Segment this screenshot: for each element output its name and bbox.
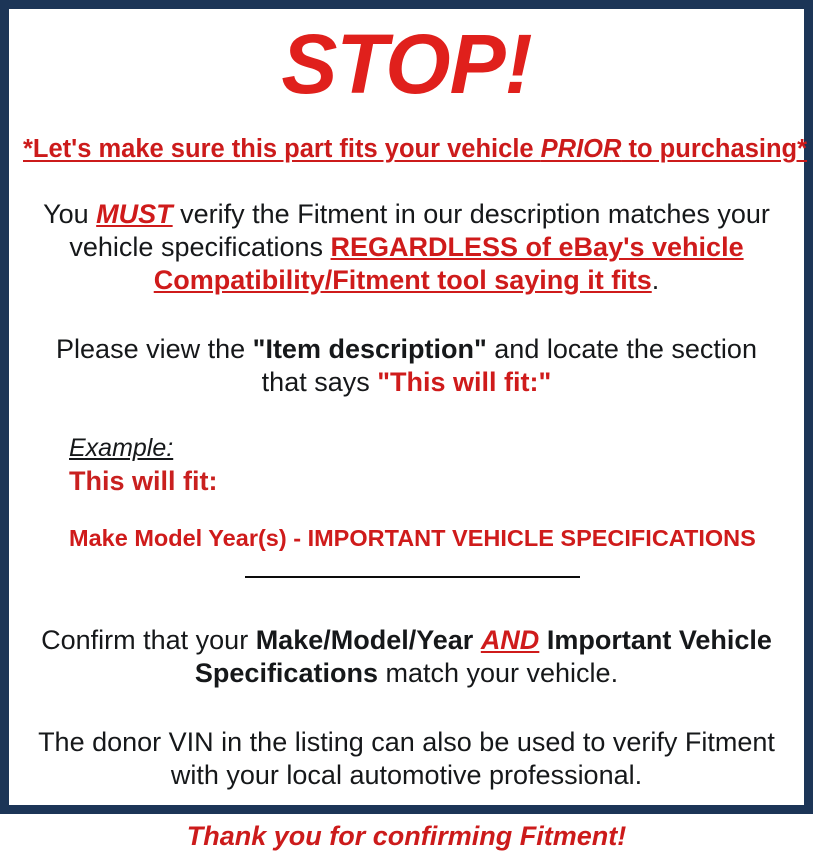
this-will-fit-quote: "This will fit:" (377, 367, 551, 397)
emphasis-and: AND (481, 625, 540, 655)
page-title: STOP! (23, 22, 790, 106)
fitment-notice-card: STOP! *Let's make sure this part fits yo… (0, 0, 813, 814)
example-label-row: Example: (69, 435, 790, 461)
confirm-space1 (473, 625, 481, 655)
subtitle-banner: *Let's make sure this part fits your veh… (23, 135, 790, 164)
subtitle-emphasis-prior: PRIOR (541, 135, 622, 163)
confirm-seg1: Confirm that your (41, 625, 256, 655)
section-divider-wrapper (23, 576, 790, 590)
example-label: Example: (69, 434, 173, 462)
subtitle-text-after: to purchasing* (621, 135, 807, 163)
example-will-fit-heading: This will fit: (69, 465, 790, 497)
section-divider (245, 576, 580, 578)
example-block: Example: This will fit: (23, 435, 790, 498)
item-description-quote: "Item description" (253, 334, 487, 364)
must-paragraph-period: . (652, 265, 660, 295)
confirm-space2 (539, 625, 547, 655)
must-paragraph-seg1: You (43, 199, 96, 229)
itemdesc-seg1: Please view the (56, 334, 253, 364)
vin-paragraph: The donor VIN in the listing can also be… (23, 726, 790, 792)
thank-you-message: Thank you for confirming Fitment! (23, 820, 790, 852)
must-verify-paragraph: You MUST verify the Fitment in our descr… (23, 198, 790, 297)
confirm-seg4: match your vehicle. (378, 658, 618, 688)
confirm-paragraph: Confirm that your Make/Model/Year AND Im… (23, 624, 790, 690)
item-description-paragraph: Please view the "Item description" and l… (23, 333, 790, 399)
subtitle-text-before: *Let's make sure this part fits your veh… (23, 135, 541, 163)
confirm-bold-make-model-year: Make/Model/Year (256, 625, 474, 655)
example-spec-line: Make Model Year(s) - IMPORTANT VEHICLE S… (23, 524, 790, 552)
emphasis-must: MUST (96, 199, 173, 229)
